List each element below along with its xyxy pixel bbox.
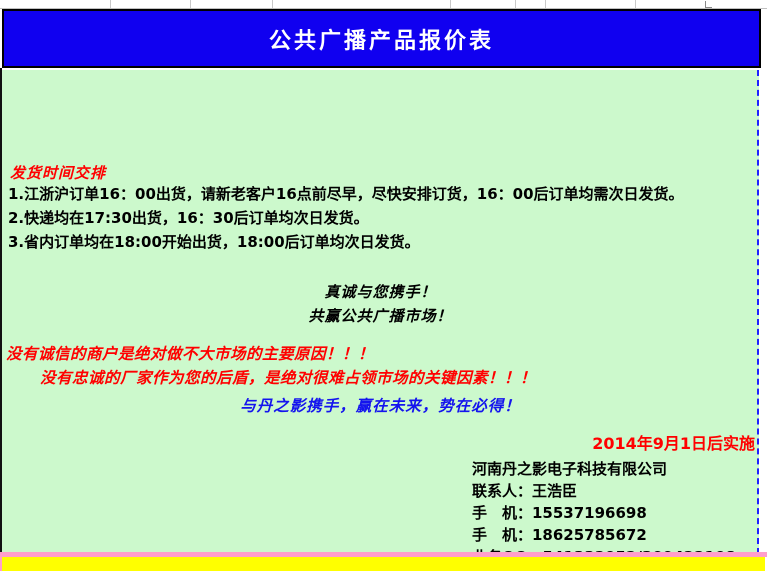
shipping-note-1: 1.江浙沪订单16：00出货，请新老客户16点前尽早，尽快安排订货，16：00后…: [8, 182, 684, 206]
shipping-notes: 1.江浙沪订单16：00出货，请新老客户16点前尽早，尽快安排订货，16：00后…: [8, 182, 684, 254]
slogan-red-line-1: 没有诚信的商户是绝对做不大市场的主要原因！！！: [6, 342, 374, 364]
contact-person: 联系人：王浩臣: [472, 480, 736, 502]
shipping-note-2: 2.快递均在17:30出货，16：30后订单均次日发货。: [8, 206, 684, 230]
shipping-heading: 发货时间交排: [10, 162, 106, 183]
slogan-blue-line: 与丹之影携手，赢在未来，势在必得！: [2, 394, 759, 416]
footer-left-edge: [0, 557, 2, 571]
content-text-layer: 发货时间交排 1.江浙沪订单16：00出货，请新老客户16点前尽早，尽快安排订货…: [2, 70, 759, 554]
content-area: 第 1 页 河南丹之影电子科技有限公司 发货时间交排 1.江浙沪订单16：00出…: [2, 70, 759, 554]
slogan-black-line-1: 真诚与您携手！: [2, 280, 759, 304]
slogan-black-line-2: 共赢公共广播市场！: [2, 304, 759, 328]
slogan-black-block: 真诚与您携手！ 共赢公共广播市场！: [2, 280, 759, 328]
contact-mobile-2: 手 机：18625785672: [472, 524, 736, 546]
footer-yellow-bar: [2, 557, 765, 571]
page-title: 公共广播产品报价表: [269, 23, 494, 55]
effective-date: 2014年9月1日后实施: [592, 430, 755, 454]
cell-corner-marker-icon: [705, 1, 712, 8]
contact-company: 河南丹之影电子科技有限公司: [472, 458, 736, 480]
shipping-note-3: 3.省内订单均在18:00开始出货，18:00后订单均次日发货。: [8, 230, 684, 254]
slogan-red-line-2: 没有忠诚的厂家作为您的后盾，是绝对很难占领市场的关键因素！！！: [40, 366, 536, 388]
contact-block: 河南丹之影电子科技有限公司 联系人：王浩臣 手 机：15537196698 手 …: [472, 458, 736, 554]
title-banner: 公共广播产品报价表: [2, 9, 761, 68]
price-list-page: 公共广播产品报价表 第 1 页 河南丹之影电子科技有限公司 发货时间交排 1.江…: [0, 0, 767, 571]
spreadsheet-gridline-strip: [0, 0, 767, 9]
contact-mobile-1: 手 机：15537196698: [472, 502, 736, 524]
